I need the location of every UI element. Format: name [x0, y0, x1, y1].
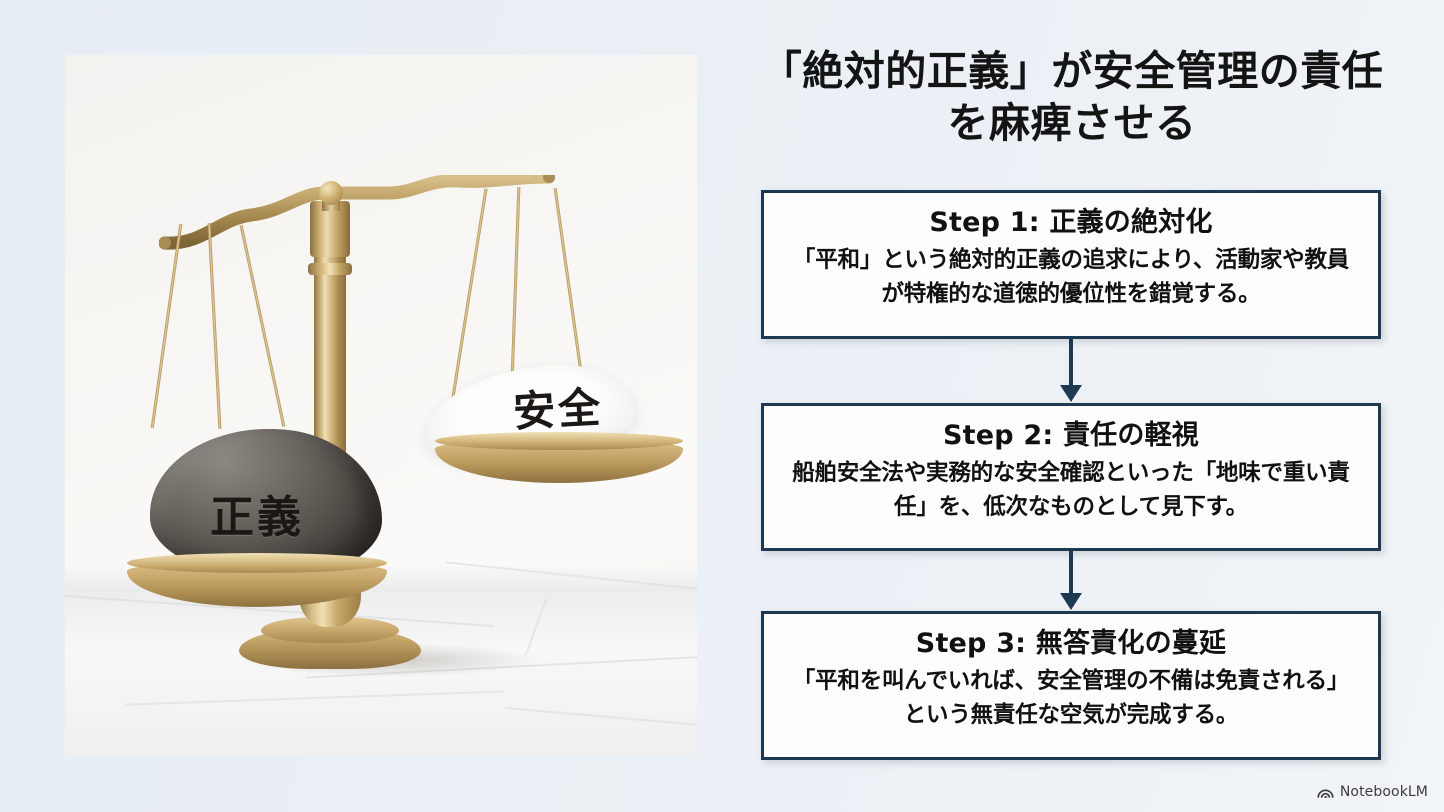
step-2-title: Step 2: 責任の軽視 — [782, 418, 1360, 454]
step-box-1[interactable]: Step 1: 正義の絶対化 「平和」という絶対的正義の追求により、活動家や教員… — [761, 190, 1381, 339]
marble-vein — [505, 707, 697, 729]
scale-column-collar — [308, 263, 352, 275]
step-3-body: 「平和を叫んでいれば、安全管理の不備は免責される」という無責任な空気が完成する。 — [782, 665, 1360, 731]
flow-arrow-1-to-2 — [1069, 339, 1071, 403]
feather-label: 安全 — [511, 374, 604, 440]
scale-finial-knob — [319, 181, 343, 205]
scale-pan-right-lip — [435, 432, 683, 450]
marble-vein — [125, 690, 505, 705]
step-box-3[interactable]: Step 3: 無答責化の蔓延 「平和を叫んでいれば、安全管理の不備は免責される… — [761, 611, 1381, 760]
arrow-shaft — [1069, 551, 1073, 595]
balance-scale-illustration: 正義 安全 — [65, 55, 697, 755]
notebooklm-arc-icon — [1317, 785, 1334, 799]
scale-pan-left-lip — [127, 553, 387, 573]
flow-arrow-2-to-3 — [1069, 551, 1071, 611]
step-box-2[interactable]: Step 2: 責任の軽視 船舶安全法や実務的な安全確認といった「地味で重い責任… — [761, 403, 1381, 551]
arrow-head-down-icon — [1060, 385, 1082, 402]
marble-vein — [446, 561, 697, 594]
step-1-title: Step 1: 正義の絶対化 — [782, 205, 1360, 241]
step-3-title: Step 3: 無答責化の蔓延 — [782, 626, 1360, 662]
notebooklm-label: NotebookLM — [1340, 784, 1428, 800]
rock-label: 正義 — [210, 481, 304, 545]
scale-beam — [159, 175, 555, 287]
step-2-body: 船舶安全法や実務的な安全確認といった「地味で重い責任」を、低次なものとして見下す… — [782, 457, 1360, 523]
slide-title: 「絶対的正義」が安全管理の責任を麻痺させる — [760, 46, 1384, 149]
notebooklm-watermark: NotebookLM — [1317, 784, 1428, 800]
step-1-body: 「平和」という絶対的正義の追求により、活動家や教員が特権的な道徳的優位性を錯覚す… — [782, 244, 1360, 310]
arrow-head-down-icon — [1060, 593, 1082, 610]
arrow-shaft — [1069, 339, 1073, 387]
